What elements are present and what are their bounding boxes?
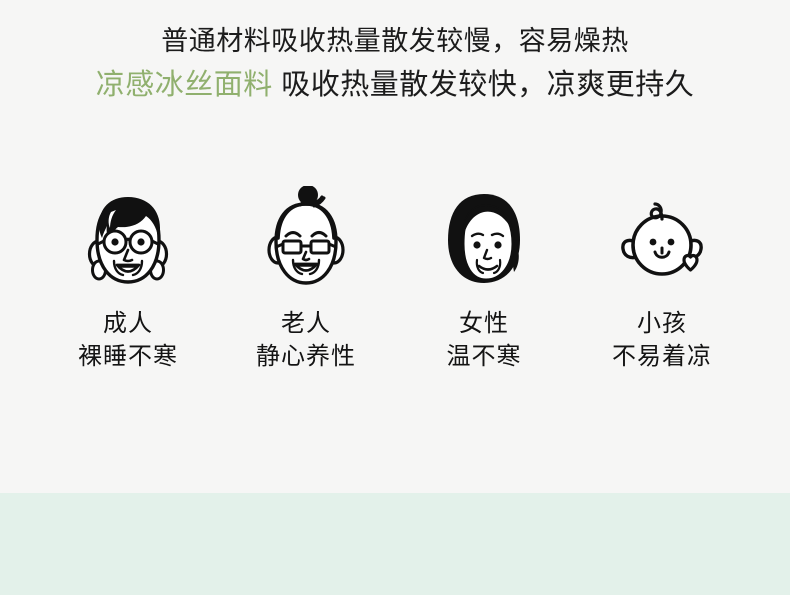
persona-woman-labels: 女性 温不寒 <box>395 308 573 374</box>
adult-face-icon <box>39 186 217 290</box>
headline-block: 普通材料吸收热量散发较慢，容易燥热 凉感冰丝面料 吸收热量散发较快，凉爽更持久 <box>0 20 790 108</box>
elderly-face-icon <box>217 186 395 290</box>
persona-subtitle: 静心养性 <box>217 340 395 374</box>
persona-title: 女性 <box>395 308 573 340</box>
baby-face-icon <box>573 186 751 290</box>
persona-elderly-labels: 老人 静心养性 <box>217 308 395 374</box>
persona-baby: 小孩 不易着凉 <box>573 186 751 374</box>
persona-subtitle: 温不寒 <box>395 340 573 374</box>
bottom-green-band <box>0 493 790 595</box>
headline-accent-text: 凉感冰丝面料 <box>96 69 273 101</box>
persona-title: 小孩 <box>573 308 751 340</box>
persona-elderly: 老人 静心养性 <box>217 186 395 374</box>
persona-title: 成人 <box>39 308 217 340</box>
persona-adult-labels: 成人 裸睡不寒 <box>39 308 217 374</box>
headline-line-1: 普通材料吸收热量散发较慢，容易燥热 <box>0 20 790 62</box>
headline-line-2-rest: 吸收热量散发较快，凉爽更持久 <box>273 69 695 101</box>
persona-baby-labels: 小孩 不易着凉 <box>573 308 751 374</box>
persona-title: 老人 <box>217 308 395 340</box>
persona-subtitle: 不易着凉 <box>573 340 751 374</box>
persona-row: 成人 裸睡不寒 <box>0 186 790 374</box>
persona-subtitle: 裸睡不寒 <box>39 340 217 374</box>
persona-adult: 成人 裸睡不寒 <box>39 186 217 374</box>
persona-woman: 女性 温不寒 <box>395 186 573 374</box>
headline-line-2: 凉感冰丝面料 吸收热量散发较快，凉爽更持久 <box>0 62 790 108</box>
promo-page: 普通材料吸收热量散发较慢，容易燥热 凉感冰丝面料 吸收热量散发较快，凉爽更持久 <box>0 0 790 595</box>
woman-face-icon <box>395 186 573 290</box>
